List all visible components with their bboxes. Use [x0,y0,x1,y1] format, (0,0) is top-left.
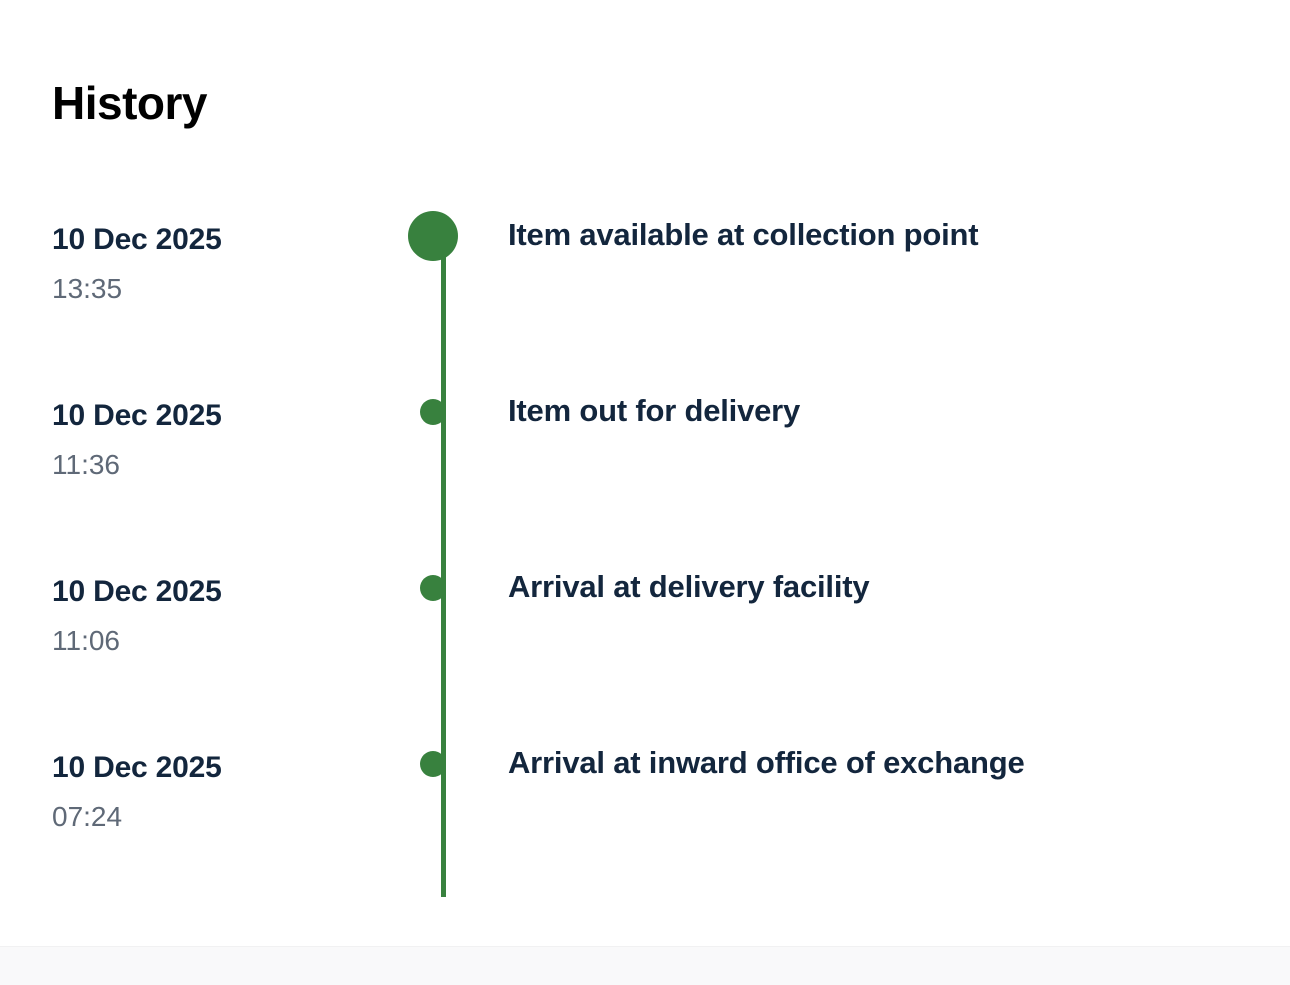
timeline-entry: 10 Dec 2025 07:24 Arrival at inward offi… [0,724,1290,884]
status-dot-icon [420,751,446,777]
timeline-entry-status-column: Arrival at inward office of exchange [508,724,1290,788]
timeline-entry-status-column: Item available at collection point [508,196,1290,260]
timeline-entry-time: 07:24 [52,803,390,831]
timeline-marker-column [390,548,508,549]
timeline-entry-time: 11:36 [52,451,390,479]
timeline-entry-date: 10 Dec 2025 [52,401,390,431]
timeline-entry-date: 10 Dec 2025 [52,225,390,255]
timeline-entry: 10 Dec 2025 13:35 Item available at coll… [0,196,1290,372]
timeline-marker-column [390,724,508,725]
status-dot-icon [420,399,446,425]
timeline-entry-date: 10 Dec 2025 [52,753,390,783]
timeline-entry: 10 Dec 2025 11:36 Item out for delivery [0,372,1290,548]
timeline-entry-status-column: Arrival at delivery facility [508,548,1290,612]
timeline-entry-datetime: 10 Dec 2025 11:36 [0,372,390,479]
footer-band [0,947,1290,985]
history-page: History 10 Dec 2025 13:35 Item available… [0,0,1290,985]
timeline-entry-status: Arrival at inward office of exchange [508,738,1208,788]
timeline-entry-status-column: Item out for delivery [508,372,1290,436]
tracking-history-timeline: 10 Dec 2025 13:35 Item available at coll… [0,196,1290,884]
timeline-entry: 10 Dec 2025 11:06 Arrival at delivery fa… [0,548,1290,724]
timeline-entry-datetime: 10 Dec 2025 07:24 [0,724,390,831]
current-status-dot-icon [408,211,458,261]
timeline-entry-time: 11:06 [52,627,390,655]
page-title: History [52,78,207,129]
timeline-entry-datetime: 10 Dec 2025 11:06 [0,548,390,655]
timeline-entry-status: Item out for delivery [508,386,1208,436]
timeline-entry-datetime: 10 Dec 2025 13:35 [0,196,390,303]
timeline-entry-status: Arrival at delivery facility [508,562,1208,612]
timeline-entry-time: 13:35 [52,275,390,303]
timeline-marker-column [390,372,508,373]
timeline-entry-status: Item available at collection point [508,210,1208,260]
status-dot-icon [420,575,446,601]
timeline-entry-date: 10 Dec 2025 [52,577,390,607]
timeline-marker-column [390,196,508,197]
